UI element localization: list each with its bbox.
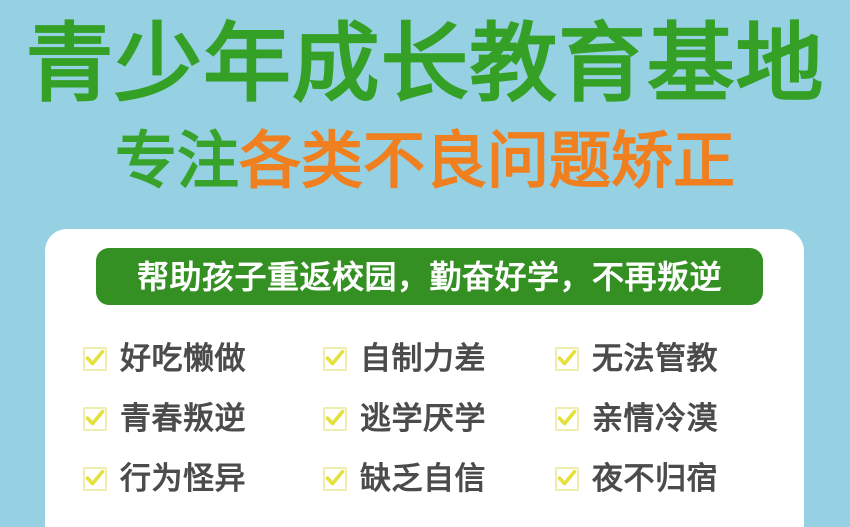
- list-item-label: 逃学厌学: [360, 402, 486, 436]
- check-icon: [323, 407, 347, 431]
- poster-root: 青少年成长教育基地 专注各类不良问题矫正 帮助孩子重返校园，勤奋好学，不再叛逆 …: [0, 0, 850, 527]
- list-item-label: 亲情冷漠: [592, 402, 718, 436]
- check-icon: [555, 467, 579, 491]
- content-card: 帮助孩子重返校园，勤奋好学，不再叛逆 好吃懒做 自制力差 无法管教: [45, 229, 804, 527]
- list-item-label: 自制力差: [360, 342, 486, 376]
- list-item-label: 无法管教: [592, 342, 718, 376]
- problem-checklist: 好吃懒做 自制力差 无法管教 青春叛逆: [83, 329, 783, 509]
- list-item[interactable]: 亲情冷漠: [555, 402, 783, 436]
- list-item[interactable]: 好吃懒做: [83, 342, 323, 376]
- check-icon: [323, 347, 347, 371]
- list-item[interactable]: 夜不归宿: [555, 462, 783, 496]
- check-icon: [83, 407, 107, 431]
- list-item[interactable]: 自制力差: [323, 342, 555, 376]
- check-icon: [83, 347, 107, 371]
- check-icon: [83, 467, 107, 491]
- list-item-label: 好吃懒做: [120, 342, 246, 376]
- headline-area: 青少年成长教育基地 专注各类不良问题矫正: [0, 0, 850, 215]
- list-item[interactable]: 无法管教: [555, 342, 783, 376]
- banner-promise: 帮助孩子重返校园，勤奋好学，不再叛逆: [96, 248, 763, 305]
- list-item[interactable]: 行为怪异: [83, 462, 323, 496]
- banner-text: 帮助孩子重返校园，勤奋好学，不再叛逆: [137, 260, 722, 294]
- check-icon: [555, 347, 579, 371]
- list-item[interactable]: 缺乏自信: [323, 462, 555, 496]
- list-item-label: 青春叛逆: [120, 402, 246, 436]
- subtitle-highlight: 各类不良问题矫正: [239, 127, 735, 196]
- check-icon: [323, 467, 347, 491]
- list-item[interactable]: 逃学厌学: [323, 402, 555, 436]
- page-title: 青少年成长教育基地: [0, 16, 850, 112]
- list-item-label: 行为怪异: [120, 462, 246, 496]
- list-item-label: 缺乏自信: [360, 462, 486, 496]
- subtitle-prefix: 专注: [115, 127, 239, 196]
- list-item[interactable]: 青春叛逆: [83, 402, 323, 436]
- list-item-label: 夜不归宿: [592, 462, 718, 496]
- page-subtitle: 专注各类不良问题矫正: [0, 126, 850, 198]
- check-icon: [555, 407, 579, 431]
